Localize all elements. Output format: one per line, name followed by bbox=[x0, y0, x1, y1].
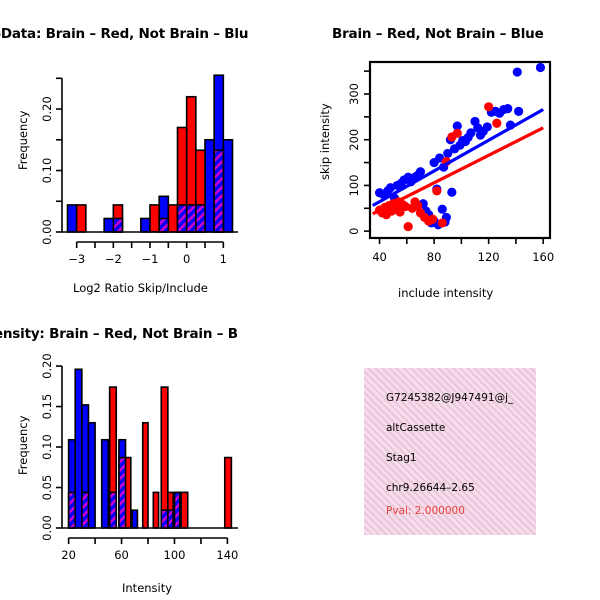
panel-intensity-scatter: Brain – Red, Not Brain – Blue skip inten… bbox=[300, 0, 600, 300]
x-tick-label: 60 bbox=[114, 548, 129, 562]
x-tick-label: 0 bbox=[183, 252, 190, 266]
scatter-point-blue bbox=[438, 205, 447, 214]
histogram-bar-red bbox=[181, 492, 188, 528]
scatter-point-blue bbox=[503, 104, 512, 113]
histogram-bar-blue bbox=[205, 140, 214, 232]
scatter-point-red bbox=[428, 215, 437, 224]
histogram-bar-overlap bbox=[214, 150, 223, 232]
y-tick-label: 0.05 bbox=[40, 475, 54, 501]
y-tick-label: 0 bbox=[347, 227, 361, 234]
histogram-bar-blue bbox=[223, 140, 232, 232]
scatter-point-blue bbox=[483, 122, 492, 131]
histogram-bar-blue bbox=[104, 218, 113, 232]
scatter-point-blue bbox=[447, 188, 456, 197]
x-tick-label: 100 bbox=[164, 548, 186, 562]
histogram-bar-red bbox=[168, 205, 177, 232]
fit-line-red-fit bbox=[373, 128, 543, 214]
histogram-bar-overlap bbox=[82, 492, 89, 528]
histogram-bar-red bbox=[77, 205, 86, 232]
scatter-point-red bbox=[484, 102, 493, 111]
scatter-point-blue bbox=[416, 167, 425, 176]
info-pval: Pval: 2.000000 bbox=[386, 505, 465, 517]
histogram-bar-overlap bbox=[110, 492, 117, 528]
info-locus: chr9.26644–2.65 bbox=[386, 482, 475, 494]
y-tick-label: 0.10 bbox=[40, 158, 54, 184]
histogram-bar-blue bbox=[75, 369, 82, 528]
y-tick-label: 0.00 bbox=[40, 515, 54, 541]
y-tick-label: 0.20 bbox=[40, 96, 54, 122]
histogram-bar-overlap bbox=[119, 458, 126, 528]
histogram-bar-blue bbox=[88, 423, 95, 528]
scatter-point-red bbox=[453, 129, 462, 138]
histogram-bar-red bbox=[153, 492, 158, 528]
histogram-bar-overlap bbox=[174, 492, 179, 528]
histogram-bar-blue bbox=[68, 205, 77, 232]
scatter-point-red bbox=[438, 218, 447, 227]
y-tick-label: 100 bbox=[347, 174, 361, 196]
scatter-point-blue bbox=[513, 67, 522, 76]
histogram-bar-overlap bbox=[168, 510, 173, 528]
histogram-bar-blue bbox=[141, 218, 150, 232]
x-tick-label: 140 bbox=[216, 548, 238, 562]
histogram-bar-overlap bbox=[178, 205, 187, 232]
histogram-bar-overlap bbox=[159, 218, 168, 232]
x-tick-label: 160 bbox=[532, 250, 554, 264]
histogram-bar-overlap bbox=[187, 205, 196, 232]
histogram-bar-red bbox=[143, 423, 148, 528]
x-tick-label: 80 bbox=[427, 250, 442, 264]
x-tick-label: 40 bbox=[372, 250, 387, 264]
panel-intensity-histogram: ne Itensity: Brain – Red, Not Brain – B … bbox=[0, 300, 300, 600]
scatter-point-red bbox=[432, 186, 441, 195]
histogram-bar-red bbox=[150, 205, 159, 232]
intensity-histogram-plot: 0.000.050.100.150.202060100140 bbox=[0, 300, 300, 600]
y-tick-label: 300 bbox=[347, 83, 361, 105]
x-tick-label: −2 bbox=[105, 252, 122, 266]
y-tick-label: 200 bbox=[347, 129, 361, 151]
info-gene-symbol: Stag1 bbox=[386, 452, 417, 464]
scatter-point-blue bbox=[536, 63, 545, 72]
scatter-point-blue bbox=[514, 107, 523, 116]
y-tick-label: 0.15 bbox=[40, 394, 54, 420]
histogram-bar-blue bbox=[102, 440, 109, 528]
histogram-bar-blue bbox=[132, 510, 137, 528]
histogram-bar-overlap bbox=[161, 510, 168, 528]
x-tick-label: 20 bbox=[61, 548, 76, 562]
x-tick-label: 1 bbox=[220, 252, 227, 266]
histogram-bar-overlap bbox=[113, 218, 122, 232]
histogram-bar-overlap bbox=[69, 492, 76, 528]
x-tick-label: −1 bbox=[142, 252, 159, 266]
info-event-type: altCassette bbox=[386, 422, 445, 434]
x-tick-label: −3 bbox=[68, 252, 85, 266]
scatter-point-red bbox=[404, 222, 413, 231]
y-tick-label: 0.10 bbox=[40, 434, 54, 460]
scatter-plot: 01002003004080120160 bbox=[300, 0, 600, 300]
y-tick-label: 0.20 bbox=[40, 353, 54, 379]
panel-ratio-histogram: RatioData: Brain – Red, Not Brain – Blu … bbox=[0, 0, 300, 300]
histogram-bar-red bbox=[225, 458, 232, 528]
info-event-id: G7245382@J947491@j_ bbox=[386, 392, 513, 404]
ratio-histogram-plot: 0.000.100.20−3−2−101 bbox=[0, 0, 300, 300]
y-tick-label: 0.00 bbox=[40, 219, 54, 245]
panel-info: G7245382@J947491@j_ altCassette Stag1 ch… bbox=[300, 300, 600, 600]
scatter-point-red bbox=[492, 119, 501, 128]
histogram-bar-overlap bbox=[196, 205, 205, 232]
histogram-bar-red bbox=[161, 387, 168, 528]
x-tick-label: 120 bbox=[478, 250, 500, 264]
